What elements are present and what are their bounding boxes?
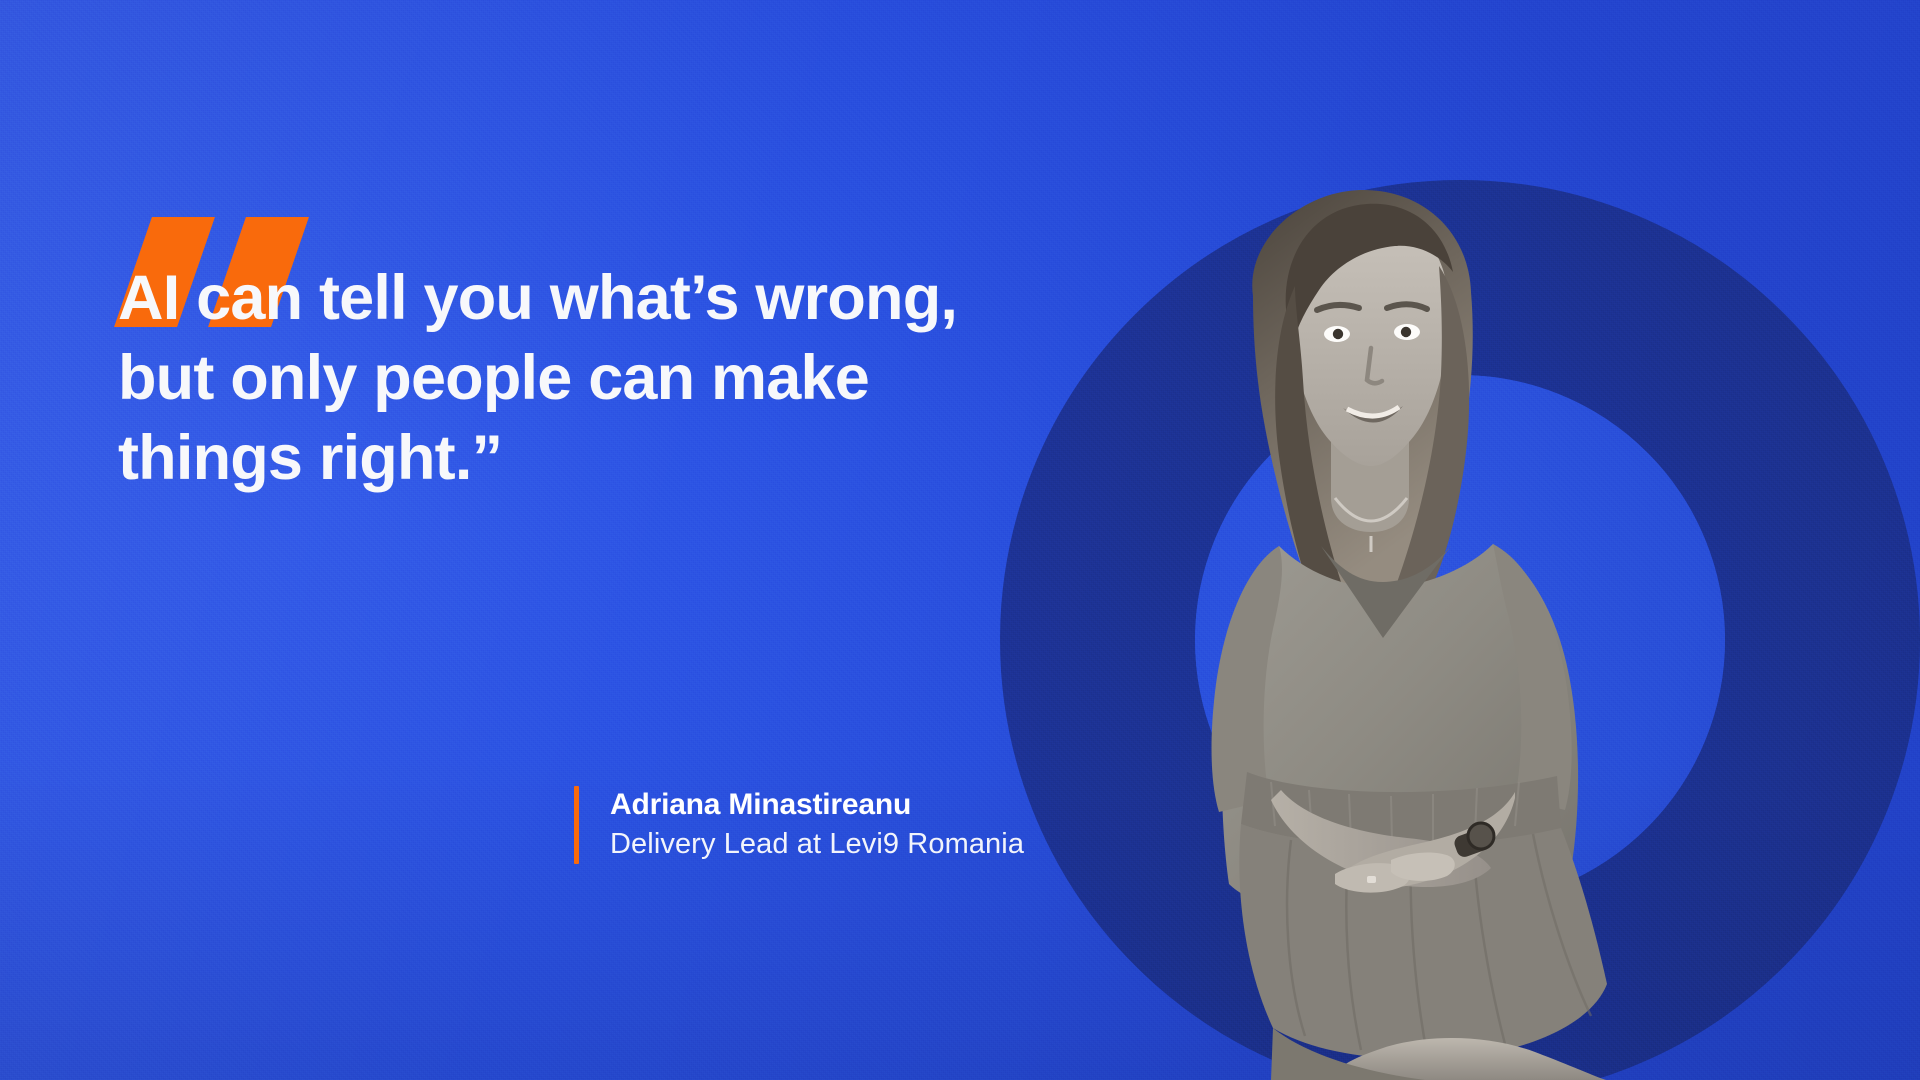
attribution-role: Delivery Lead at Levi9 Romania xyxy=(610,824,1024,864)
portrait-image xyxy=(1095,168,1655,1080)
attribution-accent-bar xyxy=(574,786,579,864)
quote-line-2: but only people can make xyxy=(118,338,1078,418)
attribution-text: Adriana Minastireanu Delivery Lead at Le… xyxy=(610,786,1024,864)
finger-ring xyxy=(1367,876,1376,883)
attribution: Adriana Minastireanu Delivery Lead at Le… xyxy=(574,786,1024,864)
quote-line-1: AI can tell you what’s wrong, xyxy=(118,258,1078,338)
hand-right xyxy=(1391,853,1455,881)
quote-text: AI can tell you what’s wrong, but only p… xyxy=(118,258,1078,498)
watch-face xyxy=(1468,823,1494,849)
quote-card: AI can tell you what’s wrong, but only p… xyxy=(0,0,1920,1080)
quote-line-3: things right.” xyxy=(118,418,1078,498)
attribution-name: Adriana Minastireanu xyxy=(610,786,1024,824)
